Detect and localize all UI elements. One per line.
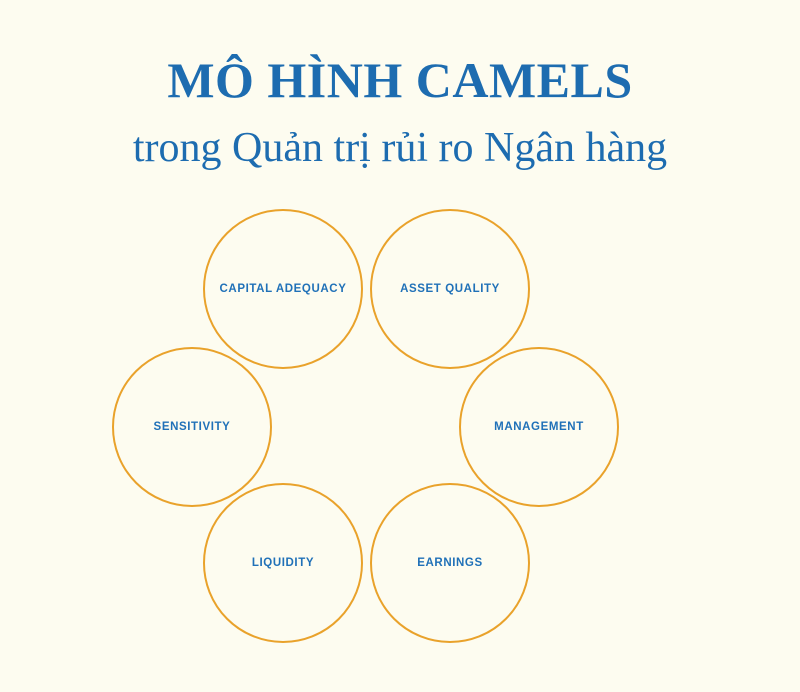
header: MÔ HÌNH CAMELS trong Quản trị rủi ro Ngâ… <box>0 0 800 169</box>
camels-infographic: MÔ HÌNH CAMELS trong Quản trị rủi ro Ngâ… <box>0 0 800 692</box>
circle-earnings: EARNINGS <box>370 483 530 643</box>
circle-sensitivity: SENSITIVITY <box>112 347 272 507</box>
circle-label-sensitivity: SENSITIVITY <box>154 421 231 433</box>
circle-asset-quality: ASSET QUALITY <box>370 209 530 369</box>
circle-label-earnings: EARNINGS <box>417 557 483 569</box>
page-title: MÔ HÌNH CAMELS <box>0 0 800 105</box>
page-subtitle: trong Quản trị rủi ro Ngân hàng <box>0 105 800 169</box>
circle-capital-adequacy: CAPITAL ADEQUACY <box>203 209 363 369</box>
circle-label-capital-adequacy: CAPITAL ADEQUACY <box>220 283 347 295</box>
circle-liquidity: LIQUIDITY <box>203 483 363 643</box>
circle-label-management: MANAGEMENT <box>494 421 584 433</box>
circle-management: MANAGEMENT <box>459 347 619 507</box>
camels-circles-diagram: CAPITAL ADEQUACY ASSET QUALITY SENSITIVI… <box>0 190 800 660</box>
circle-label-liquidity: LIQUIDITY <box>252 557 314 569</box>
circle-label-asset-quality: ASSET QUALITY <box>400 283 500 295</box>
